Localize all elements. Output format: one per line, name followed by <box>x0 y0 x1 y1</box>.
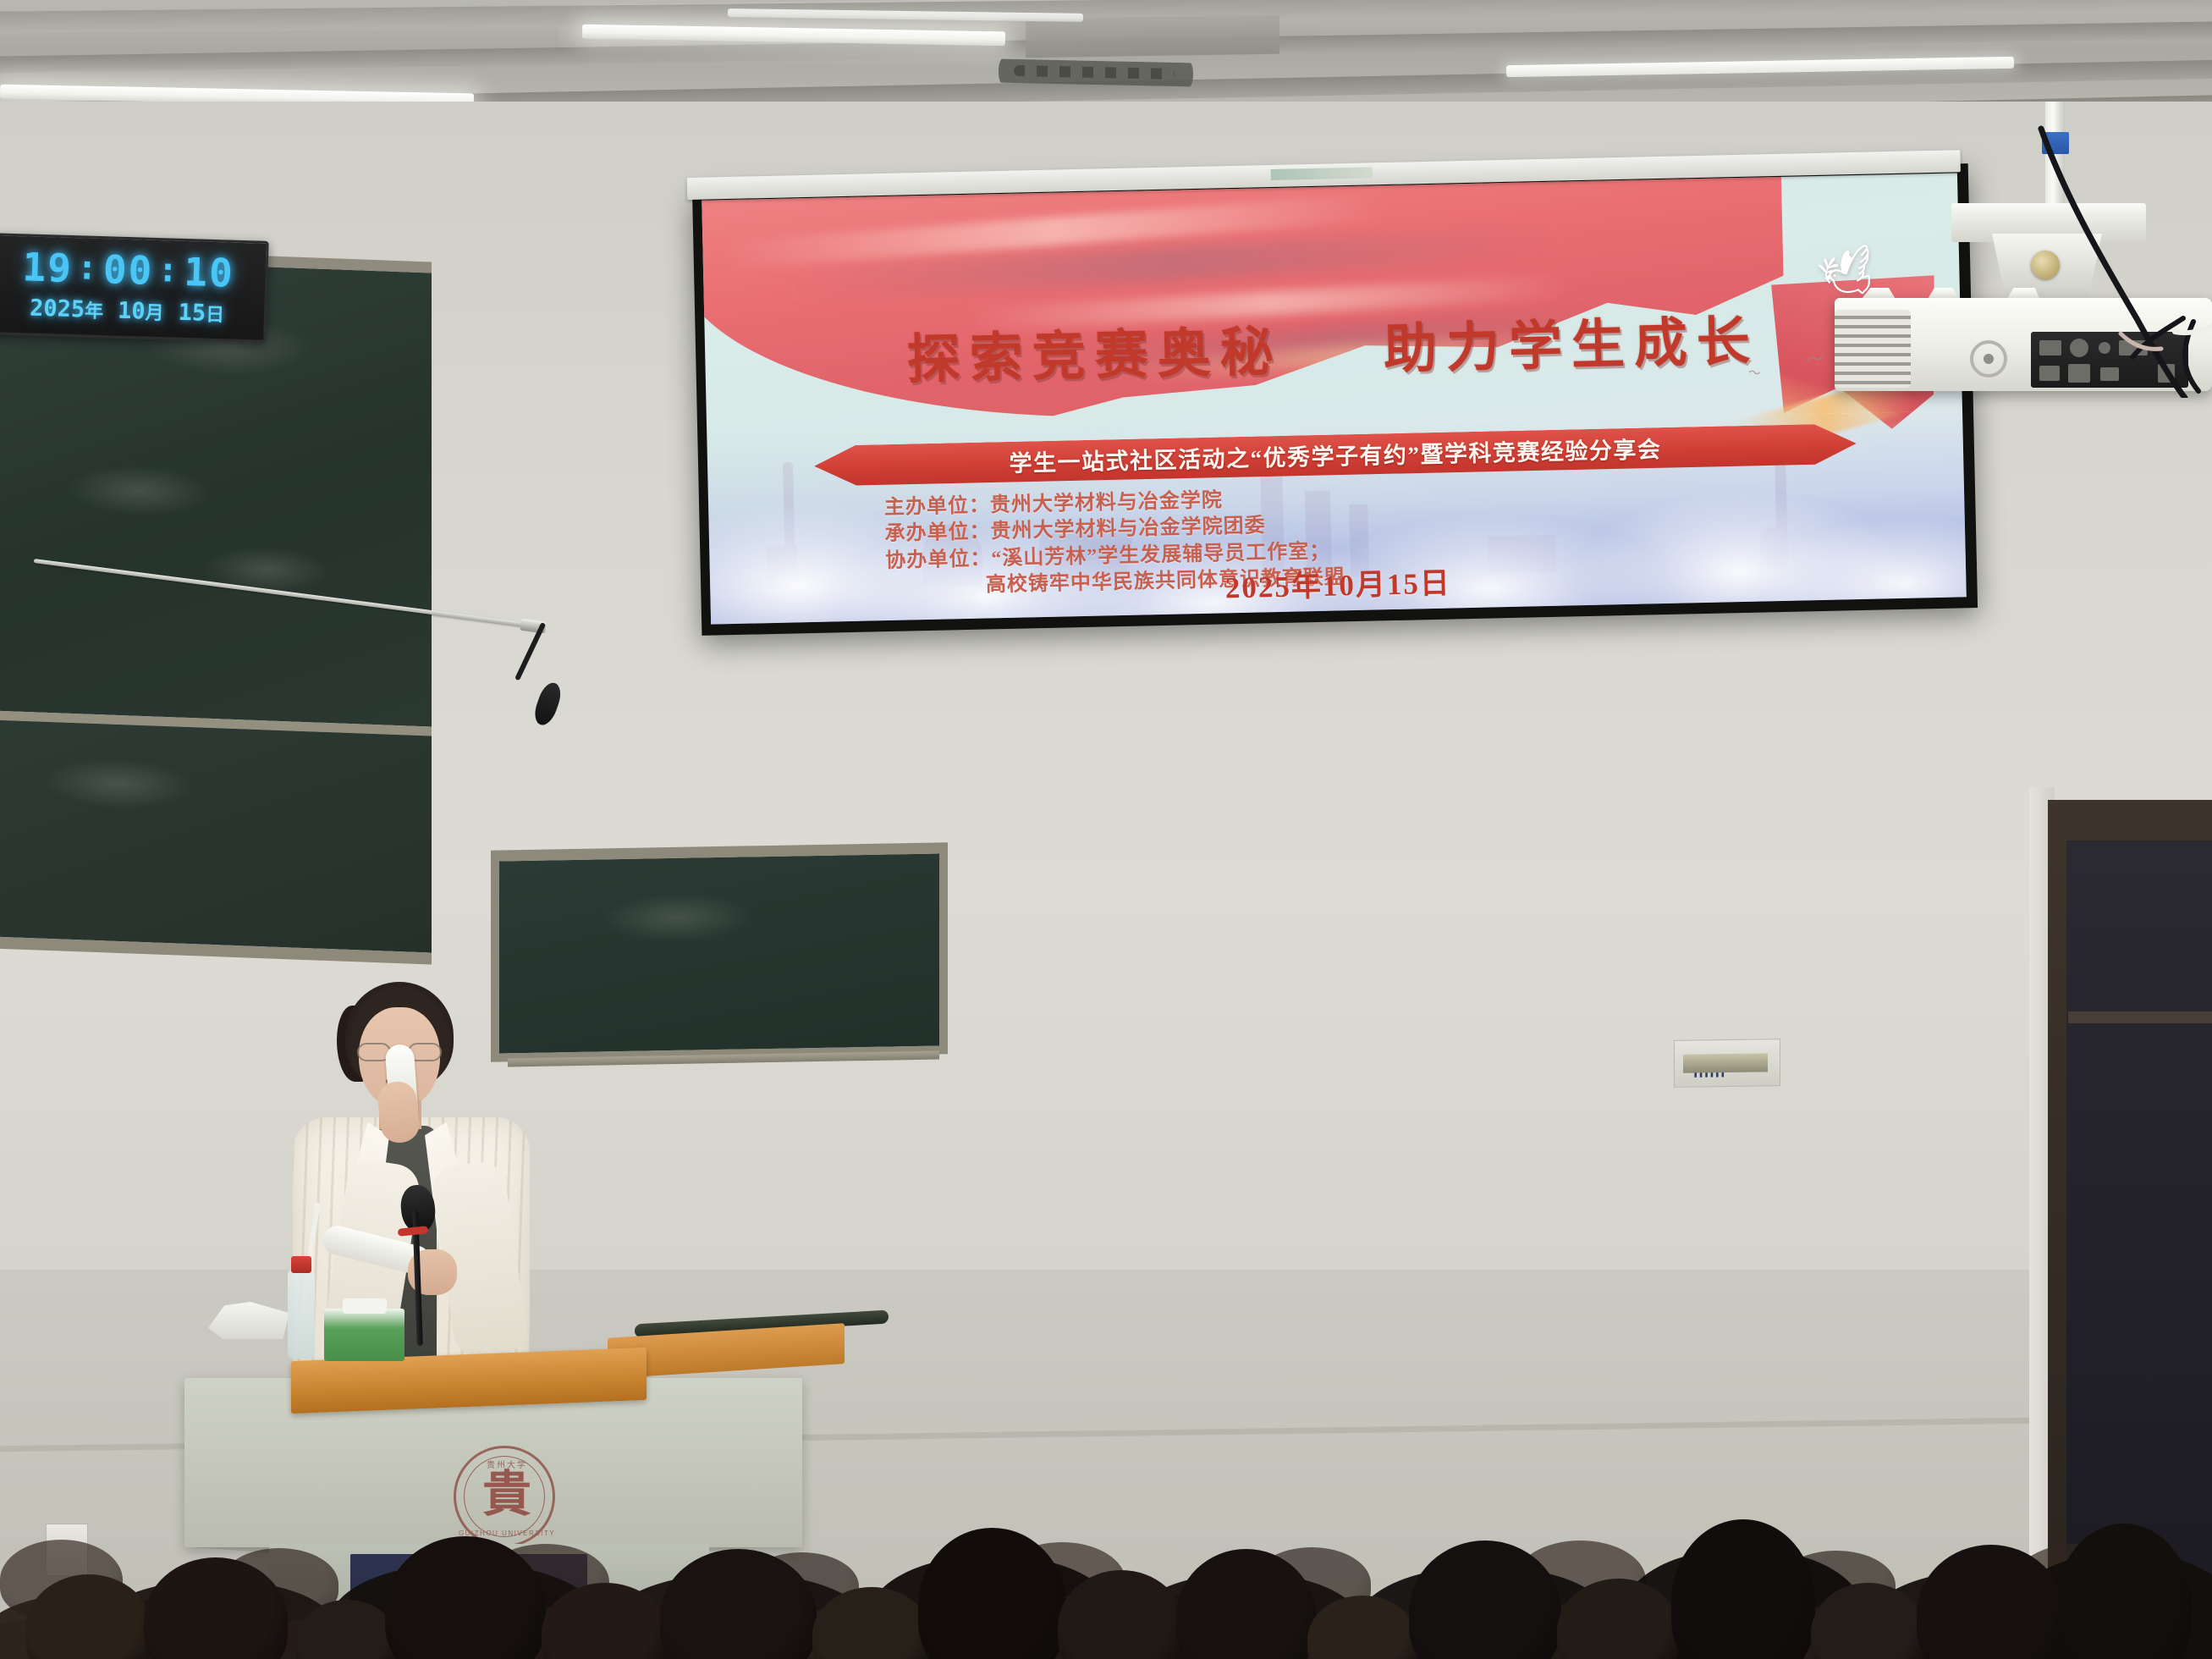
screen-housing-label <box>1271 167 1373 180</box>
projector-control-pad[interactable] <box>1955 328 2028 386</box>
audience-member-head <box>1671 1519 1815 1659</box>
projector-vent-grille <box>1835 310 1911 388</box>
projection-screen[interactable]: 🕊 〜 〜 〜 探索竞赛奥秘 助力学生成长 <box>692 163 1978 636</box>
clock-date-month: 10月 <box>118 297 164 326</box>
blackboard-left-lower <box>0 719 432 964</box>
tissue-box[interactable] <box>324 1309 404 1361</box>
projector-mount-pipe <box>2045 102 2065 215</box>
clock-colon-1: : <box>76 248 99 288</box>
led-time-row: 19 : 00 : 10 <box>0 243 266 297</box>
clock-hours: 19 <box>22 244 74 291</box>
bottle-cap <box>291 1256 311 1273</box>
clock-minutes: 00 <box>102 246 154 294</box>
title-gap <box>1306 368 1362 369</box>
clock-date-year: 2025年 <box>30 295 104 324</box>
clock-seconds: 10 <box>184 249 235 296</box>
recess-shelf <box>2068 1011 2212 1023</box>
wall-control-plate[interactable]: ▮▮▮▮▮▮ <box>1674 1039 1780 1088</box>
clock-colon-2: : <box>157 251 180 290</box>
blackboard-right <box>491 842 948 1061</box>
projector-port-panel <box>2031 332 2188 388</box>
wall-plate-strip: ▮▮▮▮▮▮ <box>1683 1053 1768 1072</box>
ceiling-light-fixture <box>999 59 1194 87</box>
led-wall-clock: 19 : 00 : 10 2025年 10月 15日 <box>0 233 269 343</box>
classroom-lecture-scene: ▮▮▮▮▮▮ 19 : 00 : 10 2025年 10月 15日 <box>0 0 2212 1659</box>
wall-plate-caption <box>1699 1019 1758 1034</box>
wall-plate-text: ▮▮▮▮▮▮ <box>1693 1071 1726 1080</box>
led-date-row: 2025年 10月 15日 <box>0 293 265 328</box>
slide-title-right: 助力学生成长 <box>1383 311 1759 379</box>
projector-dpad-center <box>1984 354 1994 364</box>
slide-title-left: 探索竞赛奥秘 <box>906 322 1283 390</box>
slide-content: 🕊 〜 〜 〜 探索竞赛奥秘 助力学生成长 <box>702 173 1967 624</box>
water-bottle[interactable] <box>288 1270 315 1359</box>
audience-area <box>0 1439 2212 1659</box>
projector-mount-bolt <box>2031 251 2060 279</box>
tissue-sheet <box>343 1298 387 1314</box>
blue-tape-marker <box>2042 132 2069 154</box>
clock-date-day: 15日 <box>178 299 224 328</box>
